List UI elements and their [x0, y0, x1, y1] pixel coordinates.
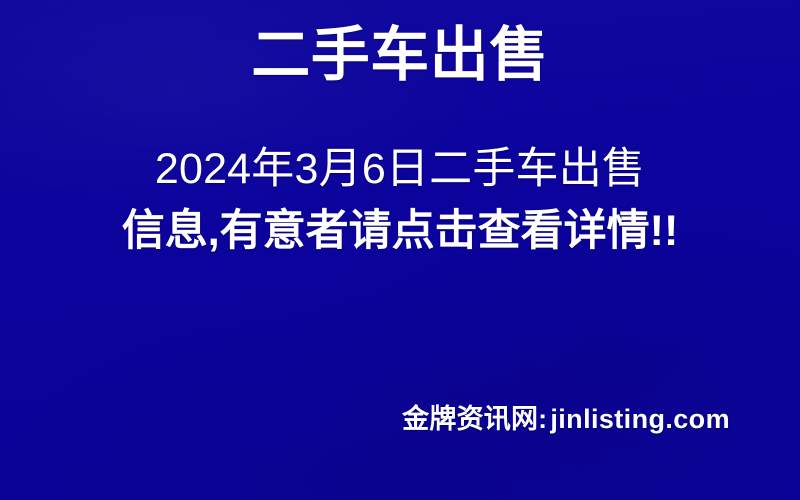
- announcement-text: 2024年3月6日二手车出售 信息,有意者请点击查看详情!!: [0, 138, 800, 262]
- poster-canvas: 二手车出售 2024年3月6日二手车出售 信息,有意者请点击查看详情!! 金牌资…: [0, 0, 800, 500]
- watermark-domain: jinlisting.com: [550, 404, 730, 434]
- announcement-line-2: 信息,有意者请点击查看详情!!: [0, 200, 800, 262]
- poster-content: 二手车出售 2024年3月6日二手车出售 信息,有意者请点击查看详情!! 金牌资…: [0, 0, 800, 500]
- announcement-line-1: 2024年3月6日二手车出售: [0, 138, 800, 200]
- page-title: 二手车出售: [0, 24, 800, 88]
- watermark-site-label: 金牌资讯网:: [402, 404, 547, 434]
- watermark: 金牌资讯网:jinlisting.com: [402, 402, 730, 436]
